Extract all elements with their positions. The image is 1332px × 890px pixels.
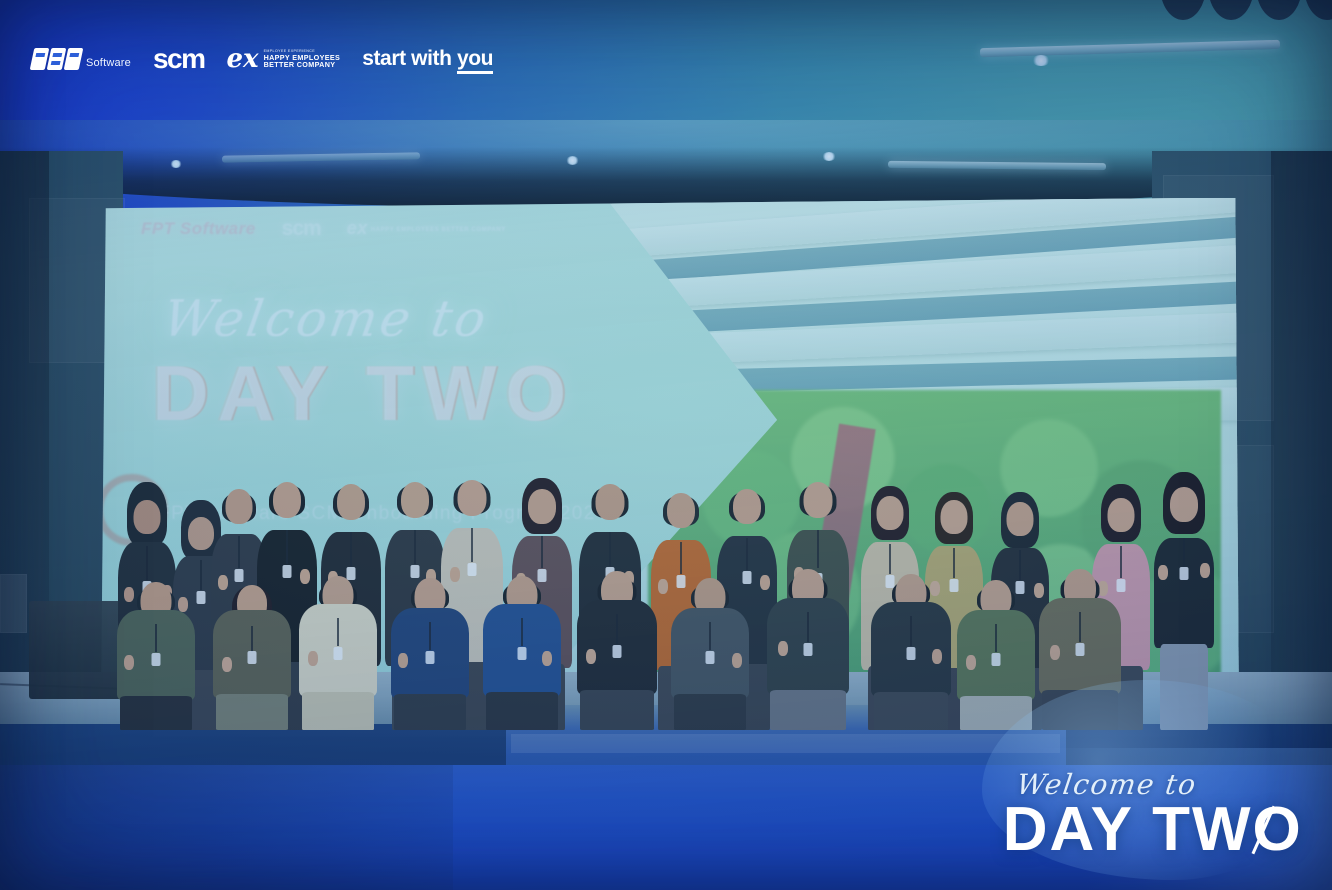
legs bbox=[216, 694, 288, 730]
thumbs-up-icon bbox=[966, 655, 976, 670]
badge bbox=[518, 647, 527, 660]
ex-tagline-line2: BETTER COMPANY bbox=[264, 61, 341, 68]
legs bbox=[960, 696, 1032, 730]
head bbox=[273, 482, 301, 518]
legs bbox=[394, 694, 466, 730]
person-front-row bbox=[476, 574, 568, 730]
lanyard bbox=[609, 532, 611, 566]
head bbox=[804, 482, 833, 518]
lanyard bbox=[521, 618, 523, 646]
lanyard bbox=[889, 544, 891, 574]
fpt-logo-icon: Software bbox=[32, 48, 131, 70]
thumbs-up-icon bbox=[542, 651, 552, 666]
thumbs-up-icon bbox=[586, 649, 596, 664]
lanyard bbox=[471, 528, 473, 562]
badge bbox=[706, 651, 715, 664]
head bbox=[528, 489, 556, 524]
head bbox=[596, 484, 625, 520]
header-logo-bar: Software scm ex EMPLOYEE EXPERIENCE HAPP… bbox=[32, 45, 493, 73]
badge bbox=[992, 653, 1001, 666]
thumbs-up-icon bbox=[1200, 563, 1210, 578]
lanyard bbox=[414, 530, 416, 564]
watermark: Welcome to DAY TWO bbox=[1003, 768, 1303, 860]
badge bbox=[804, 643, 813, 656]
ex-mark: ex bbox=[227, 46, 259, 72]
thumbs-up-icon bbox=[124, 655, 134, 670]
person-front-row bbox=[950, 578, 1042, 730]
thumbs-up-icon bbox=[932, 649, 942, 664]
person-front-row bbox=[664, 576, 756, 730]
head bbox=[226, 489, 253, 524]
lanyard bbox=[807, 612, 809, 642]
badge bbox=[1180, 567, 1189, 580]
lanyard bbox=[680, 542, 682, 574]
ceiling-spotlight-icon bbox=[822, 152, 836, 161]
lanyard bbox=[146, 546, 148, 580]
head bbox=[733, 489, 761, 524]
ceiling-spotlight-icon bbox=[1032, 55, 1050, 66]
watermark-headline: DAY TWO bbox=[1003, 801, 1303, 860]
watermark-headline-text: DAY TW bbox=[1003, 795, 1253, 864]
badge bbox=[426, 651, 435, 664]
legs bbox=[1042, 690, 1118, 730]
lanyard bbox=[1019, 550, 1021, 580]
thumbs-up-icon bbox=[1050, 645, 1060, 660]
legs bbox=[486, 692, 558, 730]
person-front-row bbox=[760, 568, 856, 730]
scm-logo-icon: scm bbox=[153, 45, 205, 73]
thumbs-up-icon bbox=[222, 657, 232, 672]
lanyard bbox=[709, 622, 711, 650]
person-front-row bbox=[1032, 568, 1128, 730]
lanyard bbox=[350, 532, 352, 566]
legs bbox=[580, 690, 654, 730]
slogan-emphasis: you bbox=[457, 47, 493, 74]
person-front-row bbox=[384, 576, 476, 730]
head bbox=[667, 493, 695, 528]
head bbox=[1007, 502, 1034, 536]
lanyard bbox=[1183, 538, 1185, 568]
head bbox=[1108, 498, 1135, 532]
person-front-row bbox=[206, 578, 298, 730]
head bbox=[458, 480, 487, 516]
lanyard bbox=[995, 624, 997, 652]
lanyard bbox=[541, 536, 543, 568]
ex-logo-icon: ex EMPLOYEE EXPERIENCE HAPPY EMPLOYEES B… bbox=[227, 46, 341, 72]
thumbs-up-icon bbox=[1158, 565, 1168, 580]
group-photo-people bbox=[0, 356, 1332, 730]
head bbox=[877, 496, 904, 530]
event-photo: FPT Software scm exHAPPY EMPLOYEES BETTE… bbox=[0, 0, 1332, 890]
lanyard bbox=[1079, 612, 1081, 642]
lanyard bbox=[910, 616, 912, 646]
badge bbox=[248, 651, 257, 664]
person-front-row bbox=[570, 570, 664, 730]
legs bbox=[874, 692, 948, 730]
legs bbox=[770, 690, 846, 730]
person-front-row bbox=[110, 580, 202, 730]
person-front-row bbox=[292, 574, 384, 730]
badge bbox=[907, 647, 916, 660]
legs bbox=[1160, 644, 1208, 730]
thumbs-up-icon bbox=[778, 641, 788, 656]
ex-tagline-top: EMPLOYEE EXPERIENCE bbox=[264, 50, 341, 54]
thumbs-up-icon bbox=[398, 653, 408, 668]
fpt-mark-icon bbox=[30, 48, 84, 70]
slogan-prefix: start with bbox=[362, 47, 457, 70]
head bbox=[941, 500, 968, 534]
badge bbox=[283, 565, 292, 578]
badge bbox=[613, 645, 622, 658]
lanyard bbox=[251, 626, 253, 652]
person-front-row bbox=[864, 572, 958, 730]
thumbs-up-icon bbox=[308, 651, 318, 666]
head bbox=[337, 484, 365, 520]
lanyard bbox=[616, 614, 618, 644]
watermark-slashed-o: O bbox=[1252, 801, 1302, 860]
badge bbox=[334, 647, 343, 660]
head bbox=[1170, 487, 1198, 522]
person-back-row bbox=[1148, 464, 1220, 730]
ceiling-spotlight-icon bbox=[566, 156, 579, 165]
lanyard bbox=[238, 536, 240, 568]
ceiling-spotlight-icon bbox=[170, 160, 182, 168]
lanyard bbox=[429, 622, 431, 650]
head bbox=[134, 500, 161, 534]
legs bbox=[120, 696, 192, 730]
ex-tagline-block: EMPLOYEE EXPERIENCE HAPPY EMPLOYEES BETT… bbox=[264, 50, 341, 68]
lanyard bbox=[155, 624, 157, 652]
legs bbox=[302, 692, 374, 730]
legs bbox=[674, 694, 746, 730]
lanyard bbox=[286, 530, 288, 564]
head bbox=[401, 482, 429, 518]
lanyard bbox=[817, 530, 819, 568]
floor-carpet-shadow bbox=[0, 765, 453, 890]
thumbs-up-icon bbox=[732, 653, 742, 668]
lanyard bbox=[746, 538, 748, 570]
lanyard bbox=[337, 618, 339, 646]
slogan: start with you bbox=[362, 47, 493, 71]
badge bbox=[1076, 643, 1085, 656]
fpt-wordmark: Software bbox=[86, 57, 131, 70]
badge bbox=[152, 653, 161, 666]
